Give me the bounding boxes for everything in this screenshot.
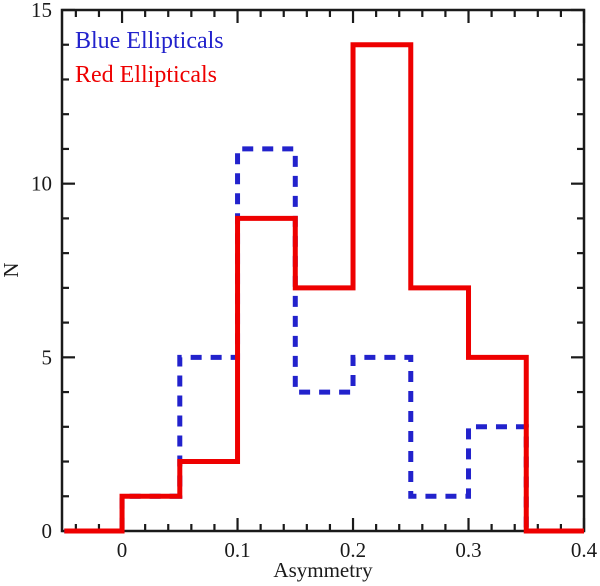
plot-frame: [62, 10, 584, 531]
x-axis-title: Asymmetry: [273, 558, 373, 582]
x-tick-label: 0: [117, 538, 128, 562]
x-tick-label: 0.1: [224, 538, 250, 562]
series-blue-ellipticals: [64, 149, 584, 531]
legend-entry-red-ellipticals: Red Ellipticals: [75, 62, 217, 88]
y-tick-labels: 051015: [31, 0, 52, 543]
y-tick-label: 15: [31, 0, 52, 22]
histogram-figure: 00.10.20.30.4 051015 Asymmetry N Blue El…: [0, 0, 600, 586]
series-red-ellipticals: [64, 45, 584, 531]
y-tick-label: 5: [42, 345, 53, 369]
series-layer: [64, 45, 584, 531]
y-tick-label: 0: [42, 519, 53, 543]
legend-entry-blue-ellipticals: Blue Ellipticals: [75, 28, 224, 54]
y-tick-label: 10: [31, 172, 52, 196]
chart-canvas: 00.10.20.30.4 051015 Asymmetry N Blue El…: [0, 0, 600, 586]
y-axis-title: N: [0, 262, 23, 277]
x-tick-label: 0.3: [455, 538, 481, 562]
x-tick-label: 0.4: [571, 538, 598, 562]
axis-ticks: [62, 10, 584, 531]
